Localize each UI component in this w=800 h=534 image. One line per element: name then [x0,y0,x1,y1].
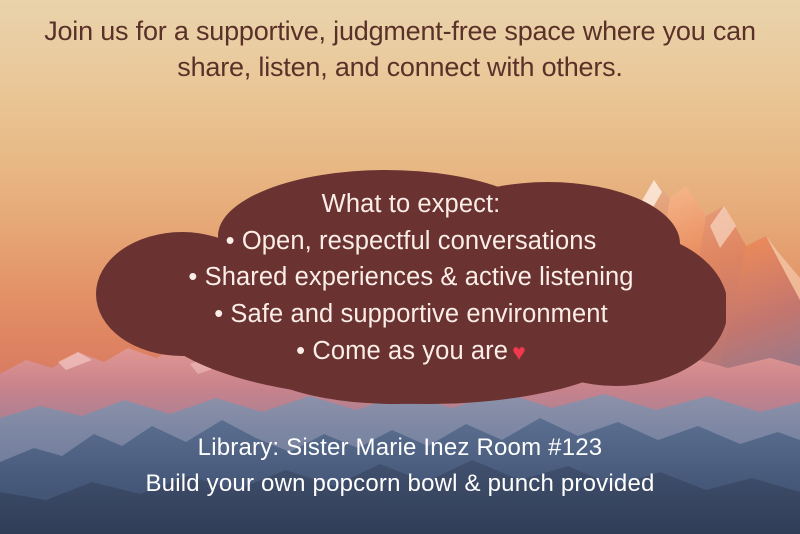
cloud-bullet-4-row: • Come as you are♥ [96,333,726,370]
cloud-bullet-2: • Shared experiences & active listening [96,259,726,296]
footer-line-location: Library: Sister Marie Inez Room #123 [0,430,800,466]
header-text-block: Join us for a supportive, judgment-free … [0,14,800,85]
header-line-1: Join us for a supportive, judgment-free … [10,14,790,50]
heart-icon: ♥ [512,339,526,365]
cloud-bullet-1: • Open, respectful conversations [96,223,726,260]
event-flyer: Join us for a supportive, judgment-free … [0,0,800,534]
cloud-text-block: What to expect: • Open, respectful conve… [96,186,726,370]
cloud-bullet-4: • Come as you are [296,337,508,365]
footer-line-refreshments: Build your own popcorn bowl & punch prov… [0,466,800,502]
header-line-2: share, listen, and connect with others. [10,50,790,86]
cloud-bullet-3: • Safe and supportive environment [96,296,726,333]
footer-text-block: Library: Sister Marie Inez Room #123 Bui… [0,430,800,503]
cloud-title: What to expect: [96,186,726,223]
